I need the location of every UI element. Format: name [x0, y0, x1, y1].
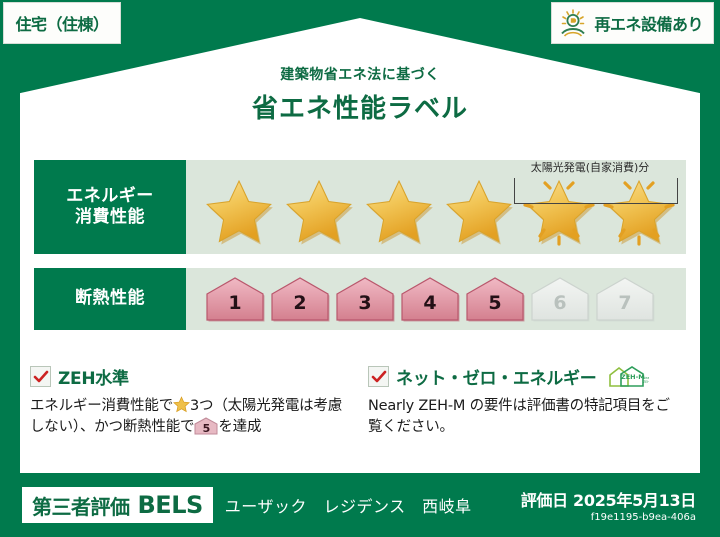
footer-bar: 第三者評価 BELS ユーザック レジデンス 西岐阜 評価日 2025年5月13…	[0, 473, 720, 537]
insulation-level-achieved: 2	[269, 276, 331, 322]
energy-label-line1: エネルギー	[66, 186, 154, 207]
insulation-level-number: 6	[529, 292, 591, 314]
label-title-block: 建築物省エネ法に基づく 省エネ性能ラベル	[0, 64, 720, 125]
net-zero-energy-title: ネット・ゼロ・エネルギー	[396, 364, 596, 389]
net-zero-energy-description: Nearly ZEH-M の要件は評価書の特記項目をご覧ください。	[368, 396, 684, 438]
insulation-performance-row: 断熱性能 1234567	[34, 268, 686, 330]
zeh-standard-block: ZEH水準 エネルギー消費性能で 3つ（太陽光発電は考慮しない）、かつ断熱性能で…	[30, 364, 346, 438]
insulation-performance-label: 断熱性能	[34, 268, 186, 330]
bels-energy-performance-label: 住宅（住棟） 再エネ設備あり 建築	[0, 0, 720, 537]
net-zero-energy-header: ネット・ゼロ・エネルギー ZEH-M Nearly ZEH-M	[368, 364, 684, 389]
evaluation-info: 評価日 2025年5月13日 f19e1195-b9ea-406a	[521, 487, 696, 523]
star-icon	[173, 396, 190, 413]
bels-logo-text: BELS	[138, 491, 203, 519]
insulation-level-number: 4	[399, 292, 461, 314]
zeh-standard-checkbox	[30, 366, 51, 387]
evaluation-date: 評価日 2025年5月13日	[521, 487, 696, 511]
insulation-level-number: 2	[269, 292, 331, 314]
insulation-level-number: 3	[334, 292, 396, 314]
title-main: 省エネ性能ラベル	[0, 88, 720, 125]
renewable-energy-badge: 再エネ設備あり	[551, 2, 714, 44]
star-icon-filled	[200, 175, 278, 247]
house-type-tab-label: 住宅（住棟）	[15, 11, 108, 35]
check-icon	[33, 369, 49, 385]
bels-jp-label: 第三者評価	[32, 491, 130, 520]
zeh-desc-part3: を達成	[218, 419, 261, 435]
zeh-m-logo-icon: ZEH-M Nearly ZEH-M	[605, 365, 649, 389]
insulation-level-badge: 5	[194, 417, 218, 435]
svg-text:ZEH-M: ZEH-M	[621, 373, 645, 381]
energy-performance-row: エネルギー 消費性能 太陽光発電(自家消費)分	[34, 160, 686, 254]
svg-text:ZEH-M: ZEH-M	[643, 380, 649, 384]
bels-certification-box: 第三者評価 BELS	[22, 487, 213, 523]
energy-performance-label: エネルギー 消費性能	[34, 160, 186, 254]
zeh-standard-title: ZEH水準	[58, 364, 129, 389]
insulation-level-achieved: 1	[204, 276, 266, 322]
zeh-desc-part1: エネルギー消費性能で	[30, 398, 173, 414]
insulation-level-inactive: 6	[529, 276, 591, 322]
star-icon-filled	[360, 175, 438, 247]
insulation-level-number: 5	[464, 292, 526, 314]
zeh-standard-description: エネルギー消費性能で 3つ（太陽光発電は考慮しない）、かつ断熱性能で 5 を達成	[30, 396, 346, 438]
solar-sun-icon	[558, 9, 588, 37]
insulation-level-achieved: 3	[334, 276, 396, 322]
insulation-level-inactive: 7	[594, 276, 656, 322]
check-icon	[371, 369, 387, 385]
zeh-standard-header: ZEH水準	[30, 364, 346, 389]
renewable-badge-label: 再エネ設備あり	[594, 11, 703, 35]
insulation-level-achieved: 5	[464, 276, 526, 322]
energy-label-line2: 消費性能	[75, 207, 145, 228]
house-type-tab: 住宅（住棟）	[3, 2, 121, 44]
net-zero-energy-checkbox	[368, 366, 389, 387]
insulation-level-badge-value: 5	[194, 421, 218, 437]
insulation-level-achieved: 4	[399, 276, 461, 322]
net-zero-energy-block: ネット・ゼロ・エネルギー ZEH-M Nearly ZEH-M Nearly Z…	[368, 364, 684, 438]
building-name: ユーザック レジデンス 西岐阜	[225, 493, 472, 517]
star-icon-filled	[280, 175, 358, 247]
energy-stars-area: 太陽光発電(自家消費)分	[186, 160, 686, 254]
star-icon-filled	[440, 175, 518, 247]
insulation-levels-area: 1234567	[186, 268, 686, 330]
evaluation-id: f19e1195-b9ea-406a	[521, 512, 696, 523]
insulation-level-group: 1234567	[186, 276, 656, 322]
solar-bracket-label: 太陽光発電(自家消費)分	[500, 159, 680, 175]
insulation-label-text: 断熱性能	[75, 288, 145, 309]
insulation-level-number: 7	[594, 292, 656, 314]
title-subtitle: 建築物省エネ法に基づく	[0, 64, 720, 84]
insulation-level-number: 1	[204, 292, 266, 314]
solar-bracket	[514, 178, 678, 204]
